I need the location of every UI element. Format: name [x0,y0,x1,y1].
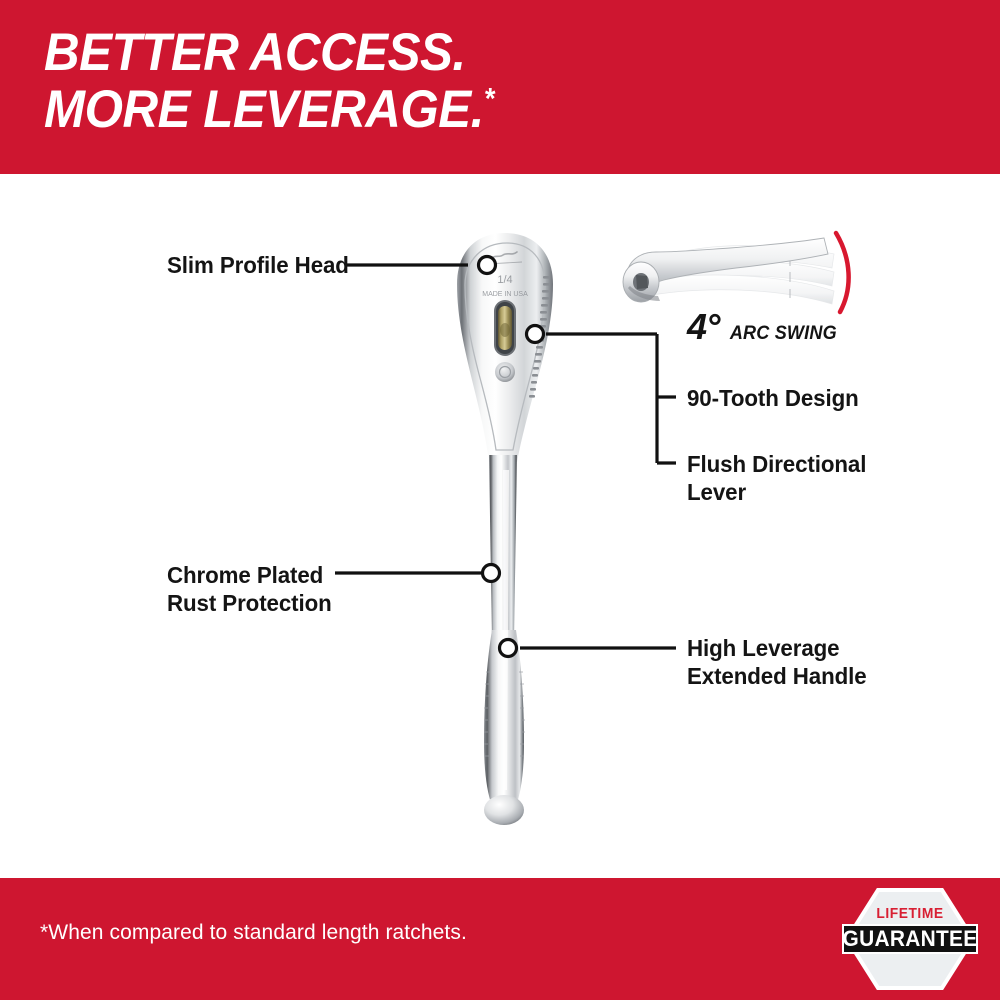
headline-line-2-text: MORE LEVERAGE. [44,80,484,139]
marker-high-leverage [500,640,517,657]
badge-lifetime-text: LIFETIME [850,905,970,922]
callout-90-tooth-design: 90-Tooth Design [687,384,859,412]
callout-slim-profile-head: Slim Profile Head [167,251,349,279]
size-stamp: 1/4 MADE IN USA [482,274,528,298]
inset-ratchet-head [623,238,828,302]
marker-chrome-plated [483,565,500,582]
handle-highlight [503,470,509,790]
ratchet-teeth [529,276,550,398]
lever-slot [494,300,516,356]
ratchet-head [457,233,553,462]
footnote-text: *When compared to standard length ratche… [40,921,467,945]
ratchet-end-ball [484,795,524,825]
arc-swing-indicator [836,233,849,312]
arc-ghost-positions [637,246,834,304]
marker-arc-swing [527,326,544,343]
ratchet-grip [484,630,524,806]
svg-text:MADE IN USA: MADE IN USA [482,291,528,298]
infographic-page: BETTER ACCESS. MORE LEVERAGE.* [0,0,1000,1000]
headline: BETTER ACCESS. MORE LEVERAGE.* [44,24,844,138]
badge-guarantee-bar: GUARANTEE [842,924,978,954]
arc-swing-words: ARC SWING [730,324,837,343]
callout-chrome-plated-rust-protection: Chrome Plated Rust Protection [167,561,332,617]
ratchet-head-bezel [465,243,545,450]
brand-logo-icon [487,252,522,264]
anvil-boss-ring [500,367,511,378]
headline-asterisk: * [484,83,494,115]
arc-swing-value: 4° [687,309,719,345]
ratchet-body [457,233,553,825]
headline-line-2: MORE LEVERAGE.* [44,81,788,138]
grip-texture [484,672,525,756]
lifetime-guarantee-badge: LIFETIME GUARANTEE [845,888,975,990]
svg-text:1/4: 1/4 [497,274,512,286]
headline-line-1: BETTER ACCESS. [44,24,788,81]
callout-flush-directional-lever: Flush Directional Lever [687,450,866,506]
lever-detail [500,323,510,337]
marker-slim-profile [479,257,496,274]
callout-arc-swing: 4° ARC SWING [687,309,840,345]
ratchet-shaft [489,455,517,640]
lever-slot-inner [496,302,514,354]
anvil-boss [495,362,515,382]
directional-lever [498,306,512,350]
callout-high-leverage-extended-handle: High Leverage Extended Handle [687,634,867,690]
badge-guarantee-text: GUARANTEE [843,926,978,952]
